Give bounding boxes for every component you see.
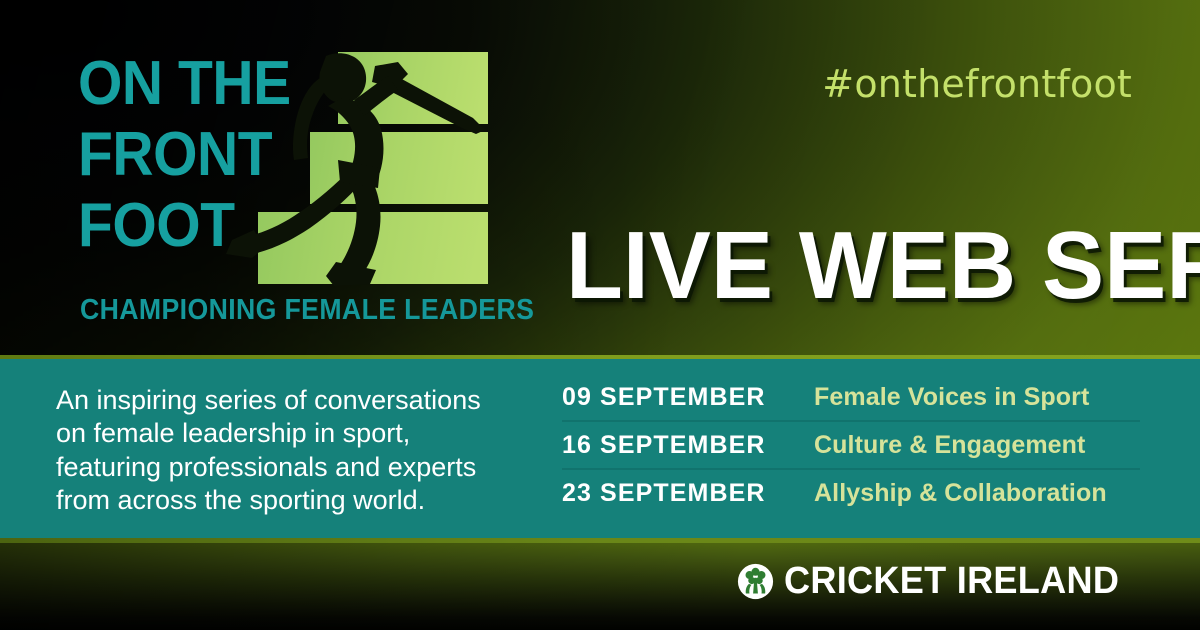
logo-line-2: FRONT: [78, 125, 308, 186]
hashtag: #onthefrontfoot: [822, 62, 1132, 106]
description-line: An inspiring series of conversations: [56, 384, 526, 417]
on-the-front-foot-logo: ON THE FRONT FOOT CHAMPIONING FEMALE LEA…: [78, 52, 488, 330]
schedule-date: 09 SEPTEMBER: [562, 374, 814, 412]
promo-poster: ON THE FRONT FOOT CHAMPIONING FEMALE LEA…: [0, 0, 1200, 630]
description-line: on female leadership in sport,: [56, 417, 526, 450]
logo-wordmark: ON THE FRONT FOOT: [78, 52, 328, 256]
page-title: LIVE WEB SERIES: [566, 218, 1200, 314]
logo-line-1: ON THE: [78, 54, 308, 115]
schedule-topic: Culture & Engagement: [814, 422, 1085, 460]
schedule-row[interactable]: 09 SEPTEMBER Female Voices in Sport: [562, 374, 1140, 420]
schedule-topic: Female Voices in Sport: [814, 374, 1089, 412]
logo-line-3: FOOT: [78, 196, 308, 257]
logo-tagline: CHAMPIONING FEMALE LEADERS: [80, 294, 534, 327]
shamrock-roundel-icon: [737, 563, 774, 600]
footer-bar: CRICKET IRELAND: [0, 543, 1200, 630]
description-line: featuring professionals and experts: [56, 451, 526, 484]
schedule-date: 23 SEPTEMBER: [562, 470, 814, 508]
cricket-ireland-logo: CRICKET IRELAND: [737, 562, 1137, 600]
description-text: An inspiring series of conversations on …: [56, 384, 526, 518]
schedule-row[interactable]: 23 SEPTEMBER Allyship & Collaboration: [562, 468, 1140, 516]
schedule-row[interactable]: 16 SEPTEMBER Culture & Engagement: [562, 420, 1140, 468]
description-line: from across the sporting world.: [56, 484, 526, 517]
top-region: ON THE FRONT FOOT CHAMPIONING FEMALE LEA…: [0, 0, 1200, 357]
schedule-date: 16 SEPTEMBER: [562, 422, 814, 460]
schedule-list: 09 SEPTEMBER Female Voices in Sport 16 S…: [562, 374, 1140, 516]
schedule-topic: Allyship & Collaboration: [814, 470, 1107, 508]
cricket-ireland-wordmark: CRICKET IRELAND: [784, 562, 1119, 600]
